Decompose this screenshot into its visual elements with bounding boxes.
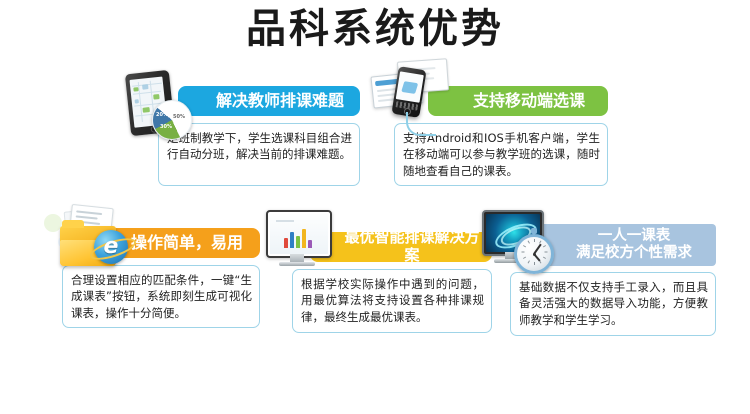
card-4-header[interactable]: 最优智能排课解决方案 (310, 232, 492, 262)
card-5-body-text: 基础数据不仅支持手工录入，而且具备灵活强大的数据导入功能，方便教师教学和学生学习… (519, 279, 708, 328)
stopwatch-icon (514, 234, 554, 274)
pie-label-30: 30% (160, 124, 172, 130)
card-2-header-label: 支持移动端选课 (473, 92, 585, 111)
monitor-stopwatch-icon (482, 210, 552, 272)
pie-label-20: 20% (156, 112, 168, 118)
smartphone-browser-icon (372, 60, 450, 140)
feature-card-2: 支持移动端选课 支持Android和IOS手机客户端，学生在移动端可以参与教学班… (372, 60, 608, 186)
card-4-header-label: 最优智能排课解决方案 (338, 229, 486, 264)
card-4-body-text: 根据学校实际操作中遇到的问题，用最优算法将支持设置各种排课规律，最终生成最优课表… (301, 276, 484, 325)
card-2-header[interactable]: 支持移动端选课 (428, 86, 608, 116)
desktop-monitor-chart-icon (266, 210, 330, 270)
browser-globe-icon: e (94, 230, 128, 264)
feature-card-1: 50% 30% 20% 解决教师排课难题 走班制教学下，学生选课科目组合进行自动… (128, 68, 360, 186)
feature-card-5: 一人一课表 满足校方个性需求 基础数据不仅支持手工录入，而且具备灵活强大的数据导… (482, 210, 716, 336)
stopwatch-crown (531, 228, 537, 234)
monitor-bar-chart (284, 226, 314, 248)
monitor-icon (266, 210, 332, 258)
monitor-screen (270, 214, 328, 254)
card-5-header-label: 一人一课表 满足校方个性需求 (576, 228, 692, 262)
globe-letter: e (94, 230, 128, 264)
card-5-body: 基础数据不仅支持手工录入，而且具备灵活强大的数据导入功能，方便教师教学和学生学习… (510, 272, 716, 336)
monitor-base (279, 262, 315, 266)
feature-card-3: e 操作简单，易用 合理设置相应的匹配条件，一键“生成课表”按钮，系统即刻生成可… (52, 206, 264, 332)
tablet-pie-chart-icon: 50% 30% 20% (128, 68, 198, 146)
smartphone-icon (391, 66, 426, 118)
phone-app-icon (401, 81, 418, 94)
card-5-header[interactable]: 一人一课表 满足校方个性需求 (530, 224, 716, 266)
card-3-header-label: 操作简单，易用 (131, 234, 243, 253)
card-1-header-label: 解决教师排课难题 (216, 92, 344, 111)
card-3-body: 合理设置相应的匹配条件，一键“生成课表”按钮，系统即刻生成可视化课表，操作十分简… (62, 265, 260, 328)
folder-documents-browser-icon: e (52, 206, 132, 270)
feature-card-4: 最优智能排课解决方案 根据学校实际操作中遇到的问题，用最优算法将支持设置各种排课… (266, 210, 492, 334)
monitor-stand (290, 254, 304, 262)
card-4-body: 根据学校实际操作中遇到的问题，用最优算法将支持设置各种排课规律，最终生成最优课表… (292, 269, 492, 333)
pie-chart-icon: 50% 30% 20% (152, 100, 192, 140)
connector-cable-icon (406, 112, 436, 136)
page-title: 品科系统优势 (0, 4, 750, 54)
card-3-body-text: 合理设置相应的匹配条件，一键“生成课表”按钮，系统即刻生成可视化课表，操作十分简… (71, 272, 252, 321)
phone-screen (396, 71, 424, 102)
pie-label-50: 50% (173, 114, 185, 120)
folder-tab (62, 220, 84, 228)
stopwatch-center-pin (533, 253, 536, 256)
card-1-header[interactable]: 解决教师排课难题 (178, 86, 360, 116)
